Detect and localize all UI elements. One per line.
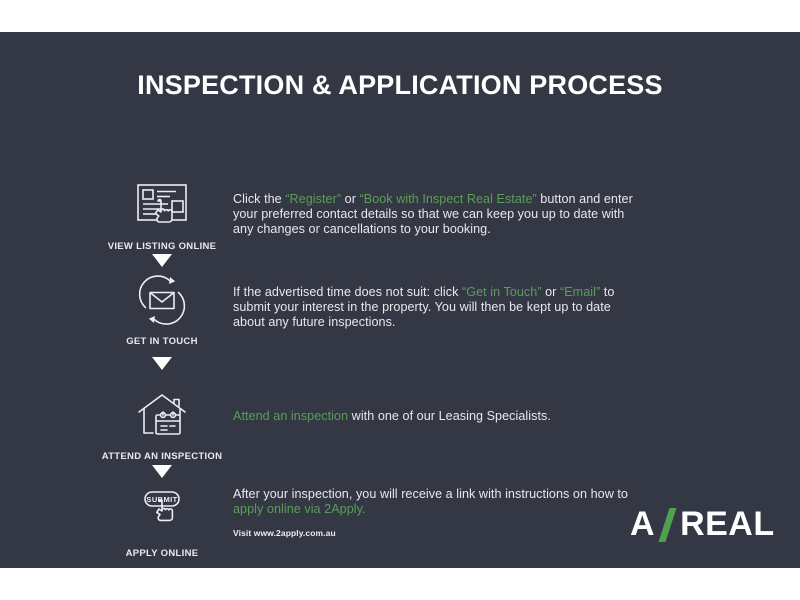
down-triangle-icon — [152, 254, 172, 267]
body-text-accent-attend-an-inspection: Attend an inspection — [233, 409, 348, 423]
submit-button-cursor-icon: SUBMIT — [88, 484, 236, 540]
listing-page-cursor-icon — [88, 177, 236, 233]
body-text-plain: Click the — [233, 192, 285, 206]
step-view-listing-online: VIEW LISTING ONLINE — [88, 177, 236, 252]
connector-1 — [88, 254, 236, 267]
body-text-plain: or — [341, 192, 359, 206]
logo-slash-icon — [660, 508, 677, 542]
body-text-accent-email: “Email” — [560, 285, 600, 299]
logo-left-text: A — [630, 505, 655, 544]
down-triangle-icon — [152, 465, 172, 478]
body-text-plain: After your inspection, you will receive … — [233, 487, 628, 501]
step-label: GET IN TOUCH — [88, 336, 236, 347]
house-calendar-icon — [88, 387, 236, 443]
step-body-attend-an-inspection: Attend an inspection with one of our Lea… — [233, 409, 633, 424]
step-body-get-in-touch: If the advertised time does not suit: cl… — [233, 285, 633, 329]
step-attend-an-inspection: ATTEND AN INSPECTION — [88, 387, 236, 462]
body-text-accent-register: “Register” — [285, 192, 341, 206]
visit-url-footnote: Visit www.2apply.com.au — [233, 528, 336, 538]
envelope-refresh-icon — [88, 272, 236, 328]
step-label: APPLY ONLINE — [88, 548, 236, 559]
down-triangle-icon — [152, 357, 172, 370]
slide-canvas: INSPECTION & APPLICATION PROCESS — [0, 32, 800, 568]
step-body-apply-online: After your inspection, you will receive … — [233, 487, 633, 517]
connector-2 — [88, 357, 236, 370]
body-text-plain: If the advertised time does not suit: cl… — [233, 285, 462, 299]
step-body-view-listing-online: Click the “Register” or “Book with Inspe… — [233, 192, 633, 236]
brand-logo: A REAL — [630, 505, 775, 544]
step-apply-online: SUBMIT APPLY ONLINE — [88, 484, 236, 559]
logo-right-text: REAL — [680, 505, 775, 544]
step-label: ATTEND AN INSPECTION — [88, 451, 236, 462]
step-label: VIEW LISTING ONLINE — [88, 241, 236, 252]
body-text-plain: or — [542, 285, 560, 299]
body-text-accent-book-with-ire: “Book with Inspect Real Estate” — [360, 192, 537, 206]
page-title: INSPECTION & APPLICATION PROCESS — [0, 70, 800, 101]
connector-3 — [88, 465, 236, 478]
body-text-accent-apply-online: apply online via 2Apply. — [233, 502, 366, 516]
body-text-accent-get-in-touch: “Get in Touch” — [462, 285, 542, 299]
step-get-in-touch: GET IN TOUCH — [88, 272, 236, 347]
body-text-plain: with one of our Leasing Specialists. — [348, 409, 551, 423]
